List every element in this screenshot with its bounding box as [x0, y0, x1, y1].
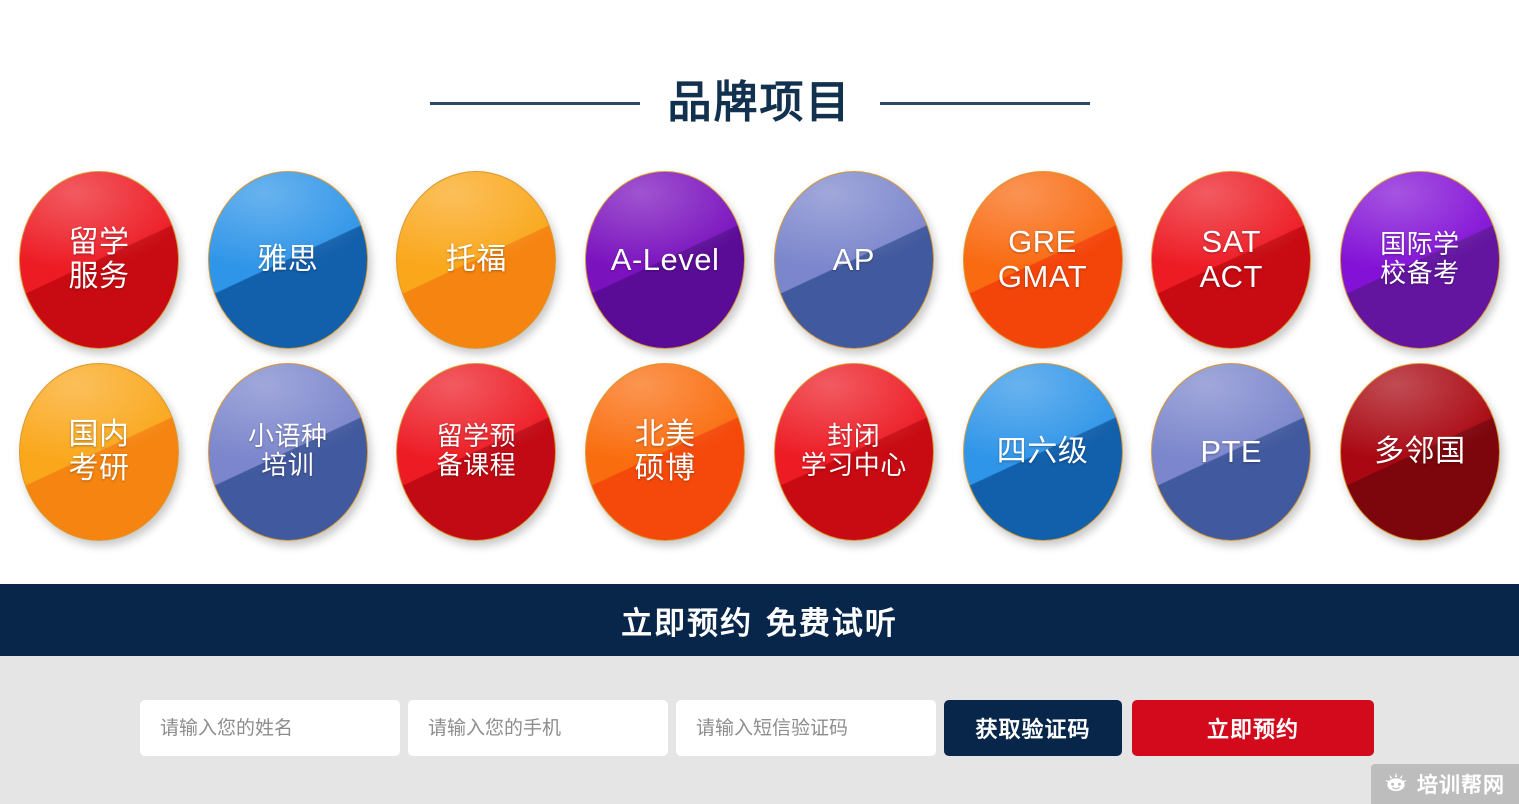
name-input[interactable] [140, 700, 400, 756]
program-circle-label: A-Level [605, 243, 726, 278]
page-title: 品牌项目 [668, 81, 852, 125]
program-circle[interactable]: SAT ACT [1151, 171, 1311, 349]
program-circle-label: 雅思 [251, 243, 324, 277]
program-circle-label: 托福 [440, 243, 513, 277]
program-cell: 小语种 培训 [198, 362, 378, 542]
program-cell: A-Level [575, 170, 755, 350]
program-row-1: 留学 服务雅思托福A-LevelAPGRE GMATSAT ACT国际学 校备考 [0, 170, 1519, 350]
sms-code-input[interactable] [676, 700, 936, 756]
program-circle-grid: 留学 服务雅思托福A-LevelAPGRE GMATSAT ACT国际学 校备考… [0, 170, 1519, 554]
program-cell: 留学 服务 [9, 170, 189, 350]
program-cell: 北美 硕博 [575, 362, 755, 542]
program-circle[interactable]: 国内 考研 [19, 363, 179, 541]
program-cell: 雅思 [198, 170, 378, 350]
program-circle-label: SAT ACT [1193, 225, 1269, 294]
program-circle[interactable]: 四六级 [963, 363, 1123, 541]
program-circle[interactable]: 多邻国 [1340, 363, 1500, 541]
program-cell: 四六级 [953, 362, 1133, 542]
program-cell: AP [764, 170, 944, 350]
submit-booking-button[interactable]: 立即预约 [1132, 700, 1374, 756]
program-circle[interactable]: AP [774, 171, 934, 349]
program-circle-label: GRE GMAT [992, 225, 1093, 294]
program-circle[interactable]: 北美 硕博 [585, 363, 745, 541]
program-cell: 托福 [386, 170, 566, 350]
program-circle[interactable]: A-Level [585, 171, 745, 349]
cta-banner: 立即预约 免费试听 [0, 584, 1519, 656]
program-circle[interactable]: 雅思 [208, 171, 368, 349]
brand-programs-page: 品牌项目 留学 服务雅思托福A-LevelAPGRE GMATSAT ACT国际… [0, 0, 1519, 804]
program-circle[interactable]: 留学 服务 [19, 171, 179, 349]
program-cell: 国际学 校备考 [1330, 170, 1510, 350]
program-circle-label: 北美 硕博 [629, 418, 702, 485]
program-circle[interactable]: 小语种 培训 [208, 363, 368, 541]
program-circle-label: 国际学 校备考 [1374, 231, 1466, 289]
site-watermark: 培训帮网 [1371, 764, 1519, 804]
program-circle-label: 封闭 学习中心 [795, 423, 913, 481]
booking-form: 获取验证码 立即预约 [140, 700, 1374, 756]
phone-input[interactable] [408, 700, 668, 756]
get-verification-code-button[interactable]: 获取验证码 [944, 700, 1122, 756]
program-circle[interactable]: 托福 [396, 171, 556, 349]
program-cell: 封闭 学习中心 [764, 362, 944, 542]
program-cell: 国内 考研 [9, 362, 189, 542]
watermark-label: 培训帮网 [1417, 769, 1505, 799]
title-rule-left [430, 102, 640, 105]
program-circle-label: 小语种 培训 [242, 423, 334, 481]
cta-banner-text: 立即预约 免费试听 [621, 598, 898, 643]
title-rule-right [880, 102, 1090, 105]
program-circle-label: 四六级 [991, 435, 1095, 469]
program-circle[interactable]: PTE [1151, 363, 1311, 541]
program-circle[interactable]: 封闭 学习中心 [774, 363, 934, 541]
program-circle[interactable]: 留学预 备课程 [396, 363, 556, 541]
program-circle-label: 多邻国 [1368, 435, 1472, 469]
program-circle-label: 留学预 备课程 [431, 423, 523, 481]
program-circle-label: 国内 考研 [63, 418, 136, 485]
program-cell: GRE GMAT [953, 170, 1133, 350]
section-title-row: 品牌项目 [0, 60, 1519, 146]
program-circle-label: PTE [1194, 435, 1268, 470]
program-cell: PTE [1141, 362, 1321, 542]
program-circle[interactable]: 国际学 校备考 [1340, 171, 1500, 349]
program-circle-label: 留学 服务 [63, 226, 136, 293]
program-row-2: 国内 考研小语种 培训留学预 备课程北美 硕博封闭 学习中心四六级PTE多邻国 [0, 362, 1519, 542]
program-circle[interactable]: GRE GMAT [963, 171, 1123, 349]
program-cell: SAT ACT [1141, 170, 1321, 350]
booking-form-strip: 获取验证码 立即预约 [0, 656, 1519, 804]
sun-face-icon [1383, 771, 1409, 797]
program-circle-label: AP [827, 243, 881, 278]
program-cell: 多邻国 [1330, 362, 1510, 542]
program-cell: 留学预 备课程 [386, 362, 566, 542]
